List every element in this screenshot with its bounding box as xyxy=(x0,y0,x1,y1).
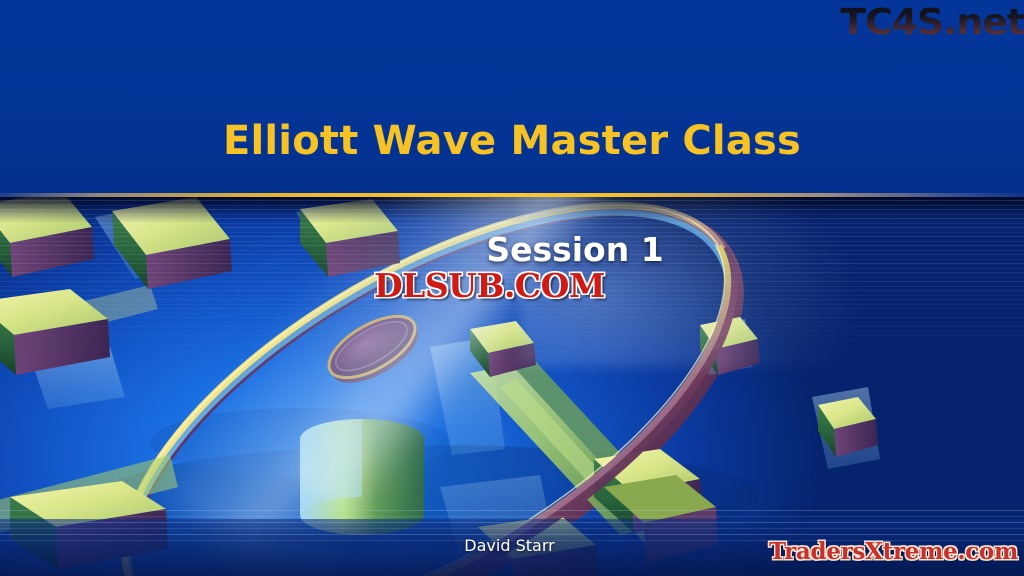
page-title: Elliott Wave Master Class xyxy=(0,118,1024,164)
presentation-slide: Elliott Wave Master Class xyxy=(0,0,1024,576)
watermark-tc4s: TC4S.net xyxy=(840,2,1024,43)
watermark-dlsub: DLSUB.COM xyxy=(374,266,605,305)
watermark-tradersxtreme: TradersXtreme.com xyxy=(769,538,1018,565)
session-label: Session 1 xyxy=(0,230,1024,269)
